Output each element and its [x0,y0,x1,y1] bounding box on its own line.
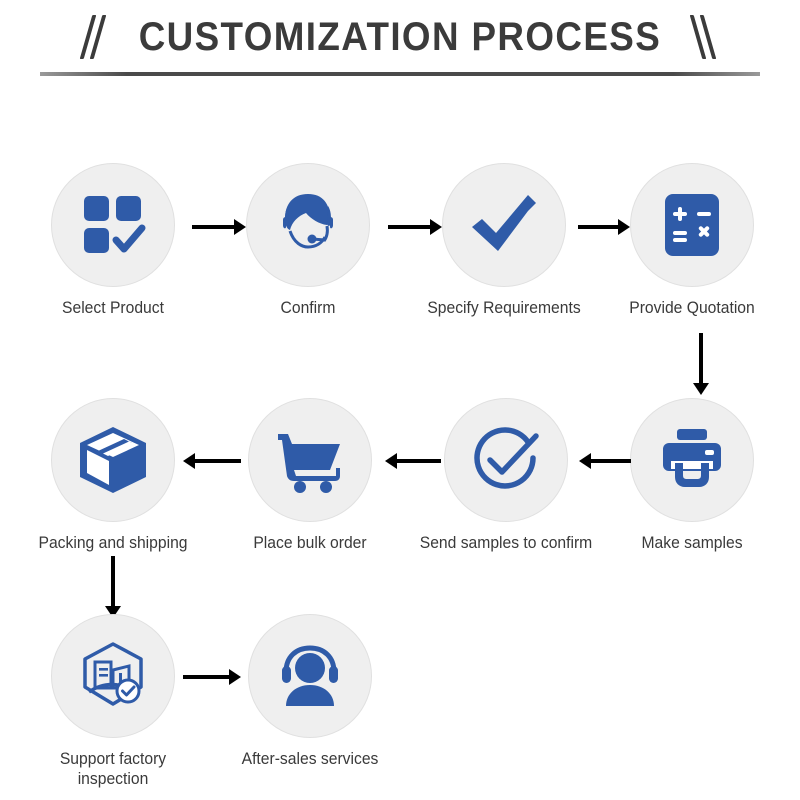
step-icon-bubble [248,398,372,522]
step-icon-bubble [51,163,175,287]
step-icon-bubble [51,614,175,738]
double-chevron-right-icon [80,11,110,63]
step-icon-bubble [630,398,754,522]
shopping-cart-icon [274,424,346,496]
calculator-icon [659,192,725,258]
checkmark-icon [466,187,542,263]
factory-shield-check-icon [77,640,149,712]
step-icon-bubble [630,163,754,287]
step-make-samples[interactable]: Make samples [597,398,787,553]
step-send-samples-to-confirm[interactable]: Send samples to confirm [411,398,601,553]
step-select-product[interactable]: Select Product [18,163,208,318]
double-chevron-left-icon [690,11,720,63]
step-packing-and-shipping[interactable]: Packing and shipping [18,398,208,553]
step-icon-bubble [248,614,372,738]
step-place-bulk-order[interactable]: Place bulk order [215,398,405,553]
step-label: Specify Requirements [414,298,595,318]
title-row: CUSTOMIZATION PROCESS [0,8,800,66]
circle-check-icon [468,422,544,498]
headphones-person-icon [274,640,346,712]
step-support-factory-inspection[interactable]: Support factory inspection [18,614,208,789]
step-icon-bubble [51,398,175,522]
arrow-8-to-9 [104,556,122,618]
step-label: Confirm [218,298,399,318]
step-confirm[interactable]: Confirm [213,163,403,318]
title-divider [40,72,760,76]
step-label: Provide Quotation [602,298,783,318]
step-after-sales-services[interactable]: After-sales services [215,614,405,769]
step-label: Select Product [23,298,204,318]
step-specify-requirements[interactable]: Specify Requirements [409,163,599,318]
step-label: Packing and shipping [23,533,204,553]
step-label: After-sales services [220,749,401,769]
step-label: Support factory inspection [23,749,204,789]
arrow-4-to-5 [692,333,710,395]
step-icon-bubble [442,163,566,287]
step-label: Make samples [602,533,783,553]
step-icon-bubble [246,163,370,287]
page-header: CUSTOMIZATION PROCESS [0,0,800,90]
printer-icon [657,425,727,495]
headset-agent-icon [272,189,344,261]
grid-check-icon [78,190,148,260]
page-title: CUSTOMIZATION PROCESS [139,15,661,60]
step-provide-quotation[interactable]: Provide Quotation [597,163,787,318]
package-box-icon [76,423,150,497]
step-label: Place bulk order [220,533,401,553]
step-icon-bubble [444,398,568,522]
step-label: Send samples to confirm [416,533,597,553]
